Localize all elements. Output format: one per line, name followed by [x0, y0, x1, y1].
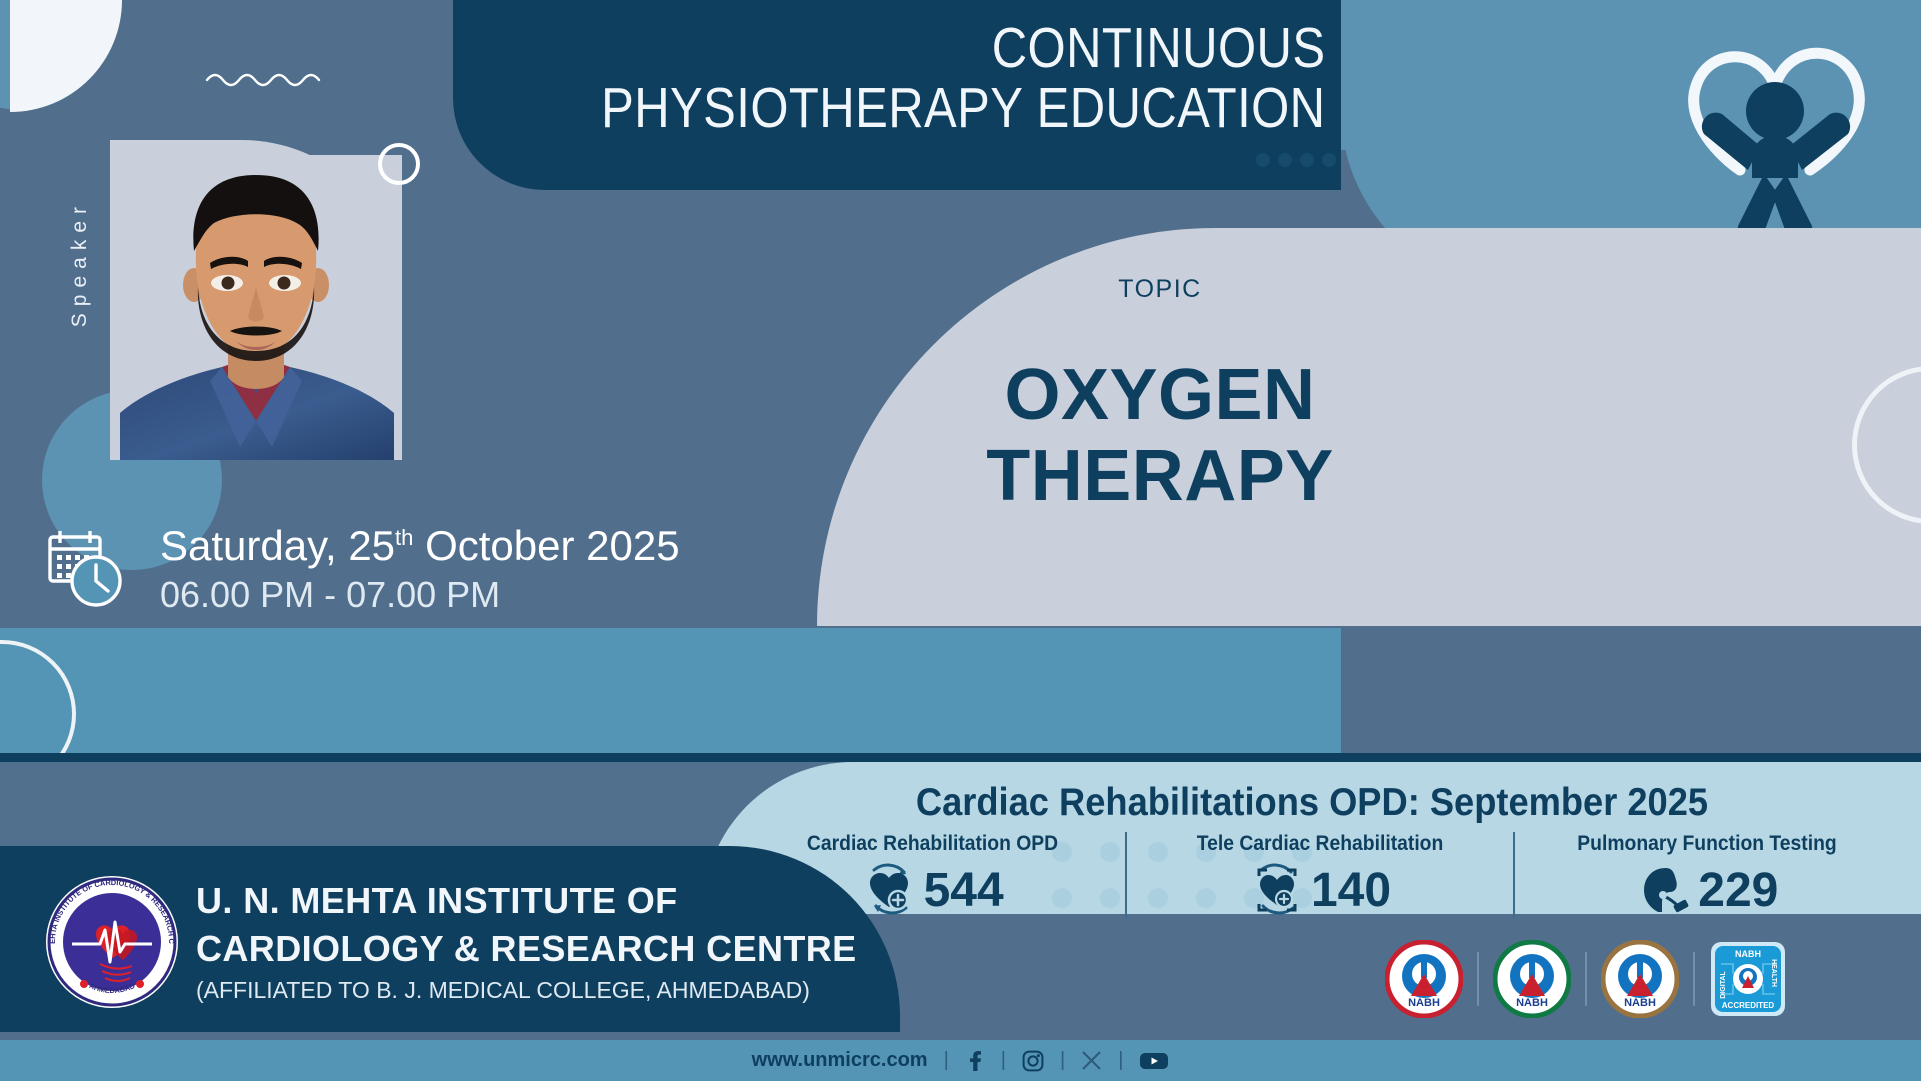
- institute-name-line-1: U. N. MEHTA INSTITUTE OF: [196, 880, 678, 922]
- un-mehta-logo: U. N. MEHTA INSTITUTE OF CARDIOLOGY & RE…: [42, 872, 182, 1012]
- facebook-icon[interactable]: [965, 1050, 985, 1072]
- nabh-accredited-badge: NABH: [1385, 940, 1463, 1018]
- stat-tele-cardiac-rehab: Tele Cardiac Rehabilitation 140: [1125, 832, 1512, 918]
- x-twitter-icon[interactable]: [1081, 1050, 1102, 1071]
- stat-value: 544: [924, 863, 1004, 918]
- topic-title: OXYGEN THERAPY: [860, 355, 1460, 516]
- stat-value: 140: [1311, 863, 1391, 918]
- youtube-icon[interactable]: [1139, 1050, 1169, 1072]
- instagram-icon[interactable]: [1022, 1050, 1044, 1072]
- topic-title-line-2: THERAPY: [860, 436, 1460, 517]
- svg-text:NABH: NABH: [1516, 997, 1548, 1009]
- website-url[interactable]: www.unmicrc.com: [752, 1049, 928, 1072]
- child-in-heart-icon: [1660, 18, 1890, 248]
- decor-wave-line: [205, 68, 335, 92]
- heart-plus-refresh-icon: [862, 862, 918, 918]
- page-title: CONTINUOUS PHYSIOTHERAPY EDUCATION: [577, 18, 1341, 139]
- calendar-clock-icon: [44, 525, 128, 609]
- footer-separator: |: [1118, 1049, 1123, 1072]
- schedule-band: [0, 628, 1341, 753]
- stat-label: Pulmonary Function Testing: [1578, 832, 1837, 856]
- stat-label: Tele Cardiac Rehabilitation: [1197, 832, 1444, 856]
- event-time: 06.00 PM - 07.00 PM: [160, 574, 500, 616]
- footer-row: www.unmicrc.com | | | |: [0, 1040, 1921, 1081]
- badge-divider: [1693, 952, 1695, 1006]
- speaker-portrait: [110, 155, 402, 460]
- stat-pulmonary-function-testing: Pulmonary Function Testing 229: [1513, 832, 1900, 918]
- decor-dots-header: [1255, 150, 1345, 190]
- stat-value: 229: [1698, 863, 1778, 918]
- decor-ring-small: [378, 143, 420, 185]
- tele-heart-icon: [1249, 862, 1305, 918]
- nabh-emergency-badge: NABH: [1601, 940, 1679, 1018]
- cpe-poster: Speaker CONTINUOUS PHYSIOTHERAPY EDUCATI…: [0, 0, 1921, 1081]
- stat-label: Cardiac Rehabilitation OPD: [807, 832, 1058, 856]
- title-line-2: PHYSIOTHERAPY EDUCATION: [577, 78, 1325, 138]
- nabh-digital-health-badge: NABH ACCREDITED DIGITAL HEALTH: [1709, 940, 1787, 1018]
- topic-label: TOPIC: [950, 275, 1370, 304]
- footer-separator: |: [944, 1049, 949, 1072]
- date-ordinal: th: [395, 525, 413, 550]
- footer-separator: |: [1060, 1049, 1065, 1072]
- svg-text:NABH: NABH: [1735, 949, 1761, 959]
- badge-divider: [1477, 952, 1479, 1006]
- footer-separator: |: [1001, 1049, 1006, 1072]
- badge-divider: [1585, 952, 1587, 1006]
- date-suffix: October 2025: [413, 522, 679, 569]
- divider-line: [0, 753, 1921, 762]
- institute-affiliation: (AFFILIATED TO B. J. MEDICAL COLLEGE, AH…: [196, 977, 810, 1004]
- svg-text:NABH: NABH: [1408, 997, 1440, 1009]
- stats-title: Cardiac Rehabilitations OPD: September 2…: [746, 781, 1879, 825]
- date-prefix: Saturday, 25: [160, 522, 395, 569]
- svg-text:ACCREDITED: ACCREDITED: [1722, 1001, 1775, 1010]
- event-date: Saturday, 25th October 2025: [160, 522, 680, 570]
- stats-row: Cardiac Rehabilitation OPD 544 Tele Card…: [740, 832, 1900, 918]
- svg-text:HEALTH: HEALTH: [1770, 959, 1777, 987]
- institute-name-line-2: CARDIOLOGY & RESEARCH CENTRE: [196, 928, 857, 970]
- speaker-side-label: Speaker: [68, 200, 92, 327]
- spirometry-head-icon: [1636, 862, 1692, 918]
- nabh-nursing-badge: NABH: [1493, 940, 1571, 1018]
- svg-text:DIGITAL: DIGITAL: [1720, 971, 1727, 999]
- svg-text:NABH: NABH: [1624, 997, 1656, 1009]
- topic-title-line-1: OXYGEN: [860, 355, 1460, 436]
- title-line-1: CONTINUOUS: [577, 18, 1325, 78]
- accreditation-badges: NABH NABH NABH: [1385, 940, 1787, 1018]
